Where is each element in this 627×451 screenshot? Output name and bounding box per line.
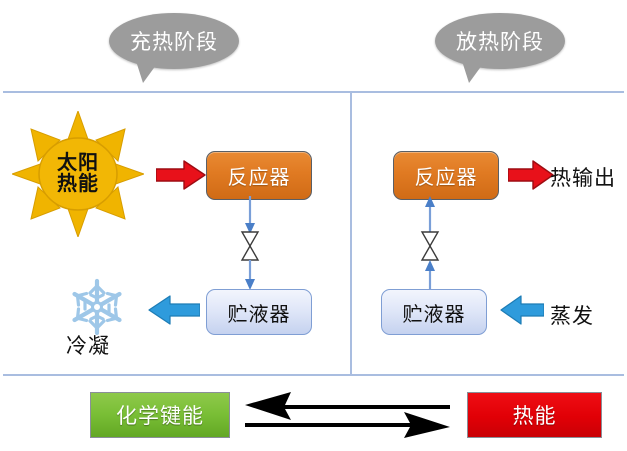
valve-icon-left bbox=[237, 196, 263, 291]
reactor-box-right: 反应器 bbox=[393, 151, 499, 200]
tank-label-left: 贮液器 bbox=[228, 298, 291, 327]
tank-label-right: 贮液器 bbox=[403, 298, 466, 327]
sun-label-line2: 热能 bbox=[57, 174, 99, 195]
phase-label-discharging: 放热阶段 bbox=[435, 13, 565, 69]
phase-bubble-charging: 充热阶段 bbox=[109, 13, 239, 85]
arrow-tank-to-condense bbox=[148, 294, 200, 326]
chemical-energy-label: 化学键能 bbox=[116, 400, 204, 430]
phase-label-charging: 充热阶段 bbox=[109, 13, 239, 69]
sun-label-line1: 太阳 bbox=[57, 153, 99, 174]
condense-label: 冷凝 bbox=[66, 330, 110, 360]
sun-icon: 太阳 热能 bbox=[12, 111, 144, 237]
chemical-energy-box: 化学键能 bbox=[90, 392, 230, 438]
arrow-evaporation-to-tank bbox=[500, 294, 544, 326]
arrow-reactor-to-heat-output bbox=[508, 160, 554, 190]
thermal-energy-box: 热能 bbox=[467, 392, 602, 438]
reactor-box-left: 反应器 bbox=[206, 151, 312, 200]
reactor-label-right: 反应器 bbox=[415, 161, 478, 190]
snowflake-icon bbox=[68, 278, 126, 336]
heat-output-label: 热输出 bbox=[550, 162, 616, 192]
bidirectional-arrows-icon bbox=[245, 392, 450, 438]
evaporation-label: 蒸发 bbox=[550, 300, 594, 330]
reactor-label-left: 反应器 bbox=[228, 161, 291, 190]
thermal-energy-label: 热能 bbox=[513, 400, 557, 430]
divider-top bbox=[3, 91, 624, 93]
tank-box-left: 贮液器 bbox=[206, 289, 312, 335]
arrow-solar-to-reactor bbox=[156, 160, 206, 190]
divider-vertical bbox=[350, 91, 352, 376]
phase-bubble-discharging: 放热阶段 bbox=[435, 13, 565, 85]
sun-label: 太阳 热能 bbox=[12, 111, 144, 237]
valve-icon-right bbox=[417, 196, 443, 291]
tank-box-right: 贮液器 bbox=[381, 289, 487, 335]
divider-bottom bbox=[3, 374, 624, 376]
diagram-canvas: 充热阶段 放热阶段 太阳 热能 bbox=[0, 0, 627, 451]
